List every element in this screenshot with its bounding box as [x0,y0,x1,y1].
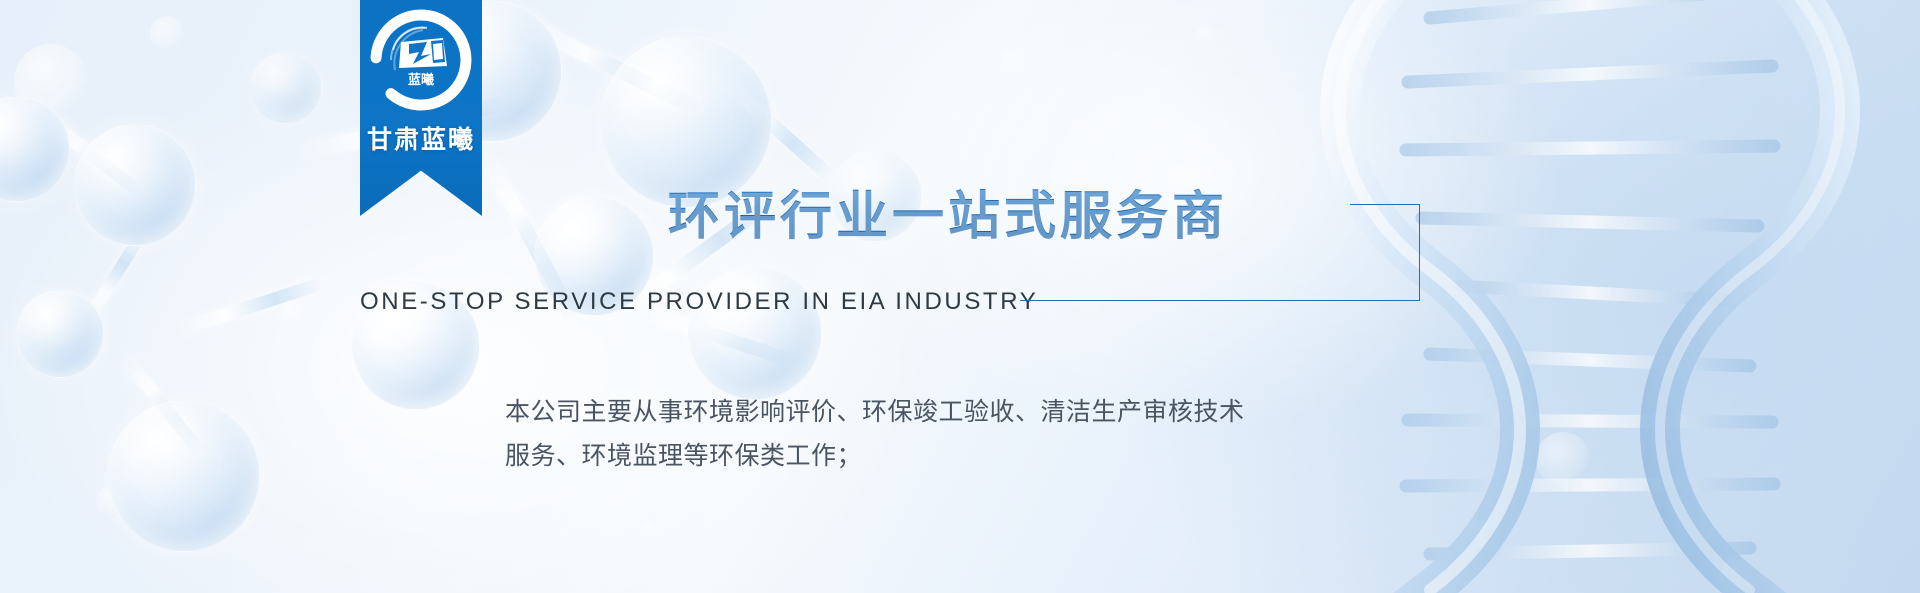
connector-line-horizontal [1020,300,1420,301]
intro-paragraph: 本公司主要从事环境影响评价、环保竣工验收、清洁生产审核技术 服务、环境监理等环保… [505,390,1285,478]
page-title: 环评行业一站式服务商 [668,174,1228,249]
intro-line-2: 服务、环境监理等环保类工作； [505,434,1285,478]
logo-wrap: 蓝曦 [360,8,482,112]
connector-line-top [1350,204,1420,205]
page-subtitle: ONE-STOP SERVICE PROVIDER IN EIA INDUSTR… [360,288,1038,316]
ribbon-brand-title: 甘肃蓝曦 [360,120,482,156]
lanxi-circle-logo: 蓝曦 [369,8,473,112]
connector-line-vertical [1419,204,1420,301]
logo-mark-text: 蓝曦 [408,72,434,88]
hero-banner: 蓝曦 甘肃蓝曦 环评行业一站式服务商 ONE-STOP SERVICE PROV… [0,0,1920,593]
brand-ribbon: 蓝曦 甘肃蓝曦 [360,0,482,216]
dna-helix-illustration [1280,0,1920,593]
intro-line-1: 本公司主要从事环境影响评价、环保竣工验收、清洁生产审核技术 [505,390,1285,434]
